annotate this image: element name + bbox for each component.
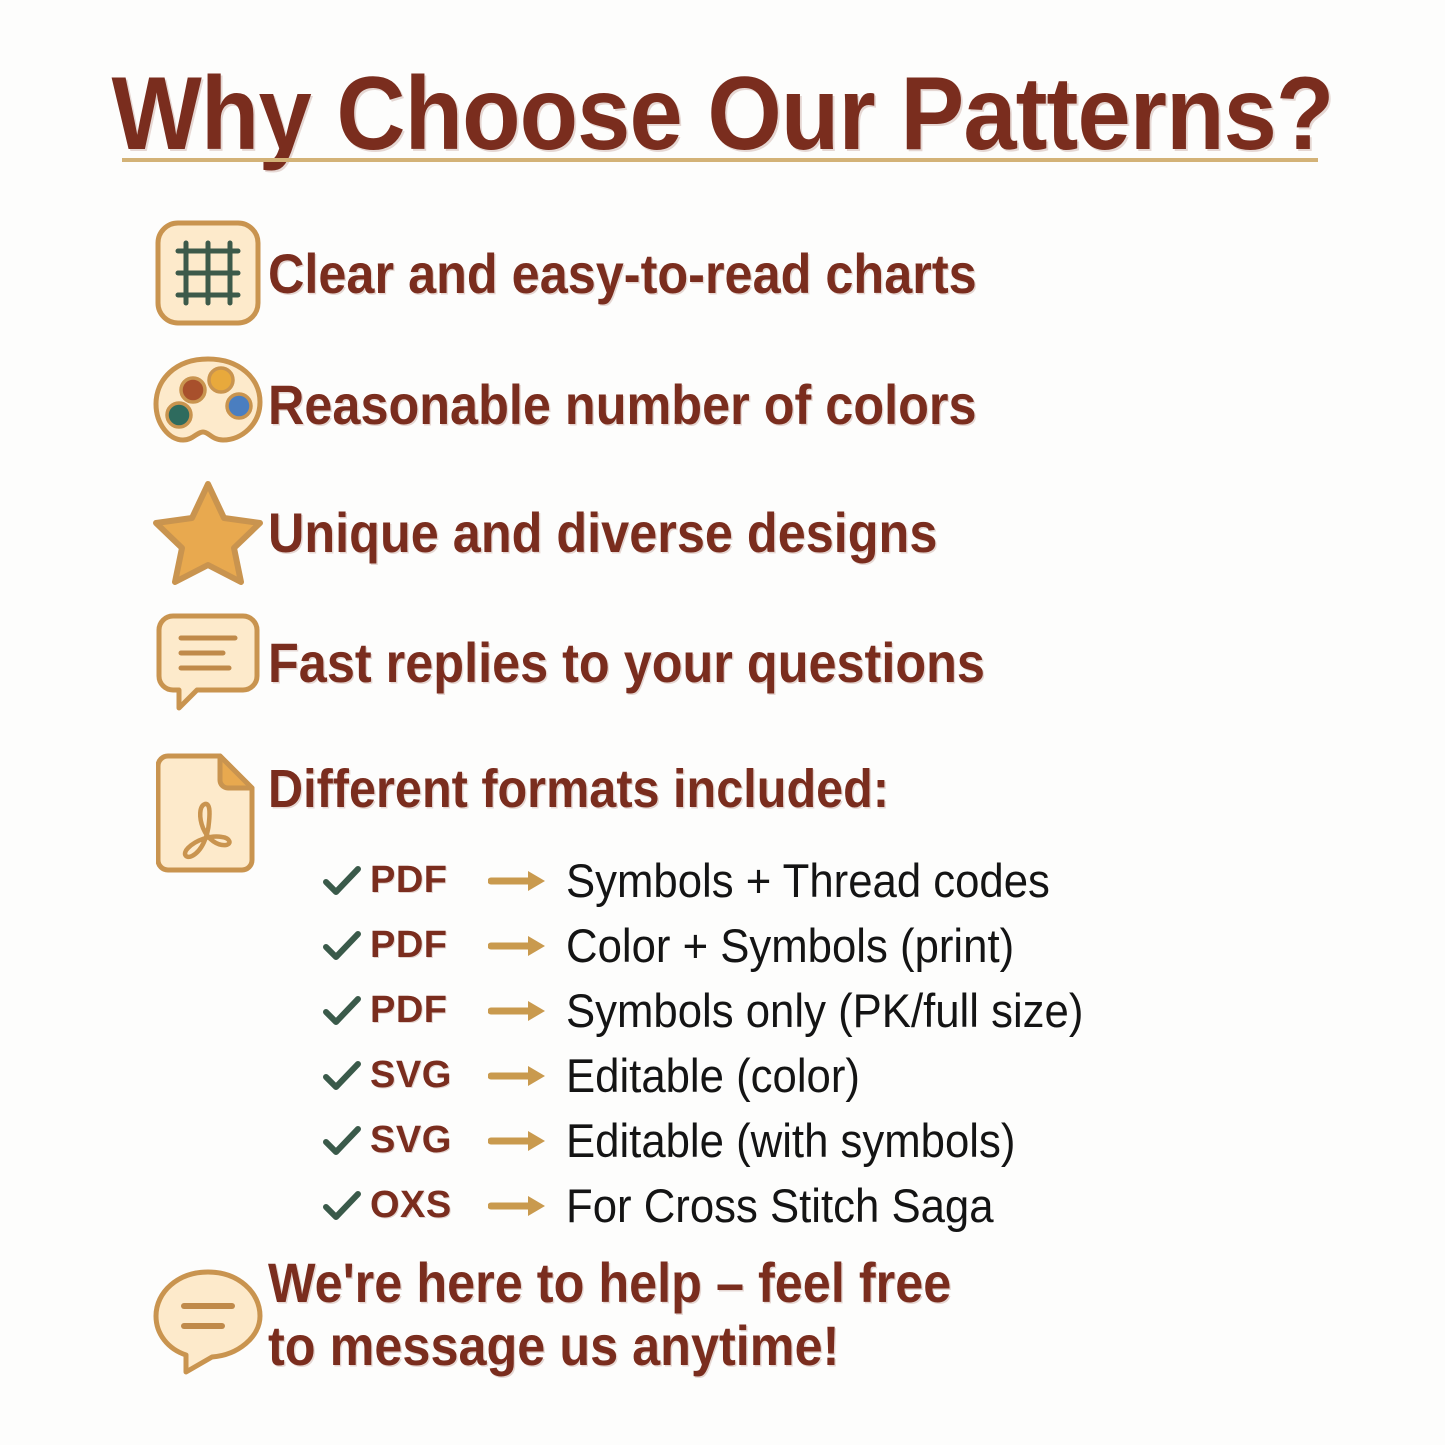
page-title: Why Choose Our Patterns? [58,62,1387,166]
feature-label-colors: Reasonable number of colors [268,372,977,437]
arrow-right-icon [488,1127,566,1155]
title-block: Why Choose Our Patterns? [0,62,1445,166]
format-row: PDF Symbols only (PK/full size) [322,978,1322,1043]
grid-chart-icon [148,218,268,328]
feature-row-replies: Fast replies to your questions [148,608,1065,716]
feature-row-designs: Unique and diverse designs [148,476,1012,588]
star-icon [148,476,268,588]
check-icon [322,1060,370,1092]
infographic-page: Why Choose Our Patterns? Clear and easy-… [0,0,1445,1445]
format-description: Editable (with symbols) [566,1113,1015,1168]
check-icon [322,1190,370,1222]
arrow-right-icon [488,997,566,1025]
help-speech-bubble-icon [148,1252,268,1380]
footer-text: We're here to help – feel free to messag… [268,1252,951,1377]
format-label: PDF [370,989,488,1032]
check-icon [322,995,370,1027]
format-row: PDF Color + Symbols (print) [322,913,1322,978]
arrow-right-icon [488,1192,566,1220]
format-row: OXS For Cross Stitch Saga [322,1173,1322,1238]
format-label: SVG [370,1054,488,1097]
format-row: PDF Symbols + Thread codes [322,848,1322,913]
footer-line-1: We're here to help – feel free [268,1252,951,1315]
color-palette-icon [148,352,268,456]
feature-row-charts: Clear and easy-to-read charts [148,218,1055,328]
feature-label-designs: Unique and diverse designs [268,500,937,565]
format-label: SVG [370,1119,488,1162]
title-underline [122,158,1318,162]
check-icon [322,865,370,897]
arrow-right-icon [488,932,566,960]
format-description: Symbols only (PK/full size) [566,983,1083,1038]
format-description: Color + Symbols (print) [566,918,1014,973]
arrow-right-icon [488,1062,566,1090]
pdf-document-icon [148,742,268,876]
format-description: For Cross Stitch Saga [566,1178,994,1233]
arrow-right-icon [488,867,566,895]
formats-list: PDF Symbols + Thread codes PDF Color + S [322,848,1322,1238]
format-row: SVG Editable (color) [322,1043,1322,1108]
format-label: PDF [370,924,488,967]
footer-line-2: to message us anytime! [268,1315,951,1378]
feature-label-replies: Fast replies to your questions [268,630,985,695]
feature-label-formats: Different formats included: [268,742,889,820]
format-label: PDF [370,859,488,902]
check-icon [322,930,370,962]
footer-row: We're here to help – feel free to messag… [148,1252,1027,1380]
format-row: SVG Editable (with symbols) [322,1108,1322,1173]
feature-row-colors: Reasonable number of colors [148,352,1055,456]
format-description: Editable (color) [566,1048,860,1103]
format-label: OXS [370,1184,488,1227]
format-description: Symbols + Thread codes [566,853,1050,908]
feature-label-charts: Clear and easy-to-read charts [268,241,977,306]
check-icon [322,1125,370,1157]
speech-bubble-icon [148,608,268,716]
